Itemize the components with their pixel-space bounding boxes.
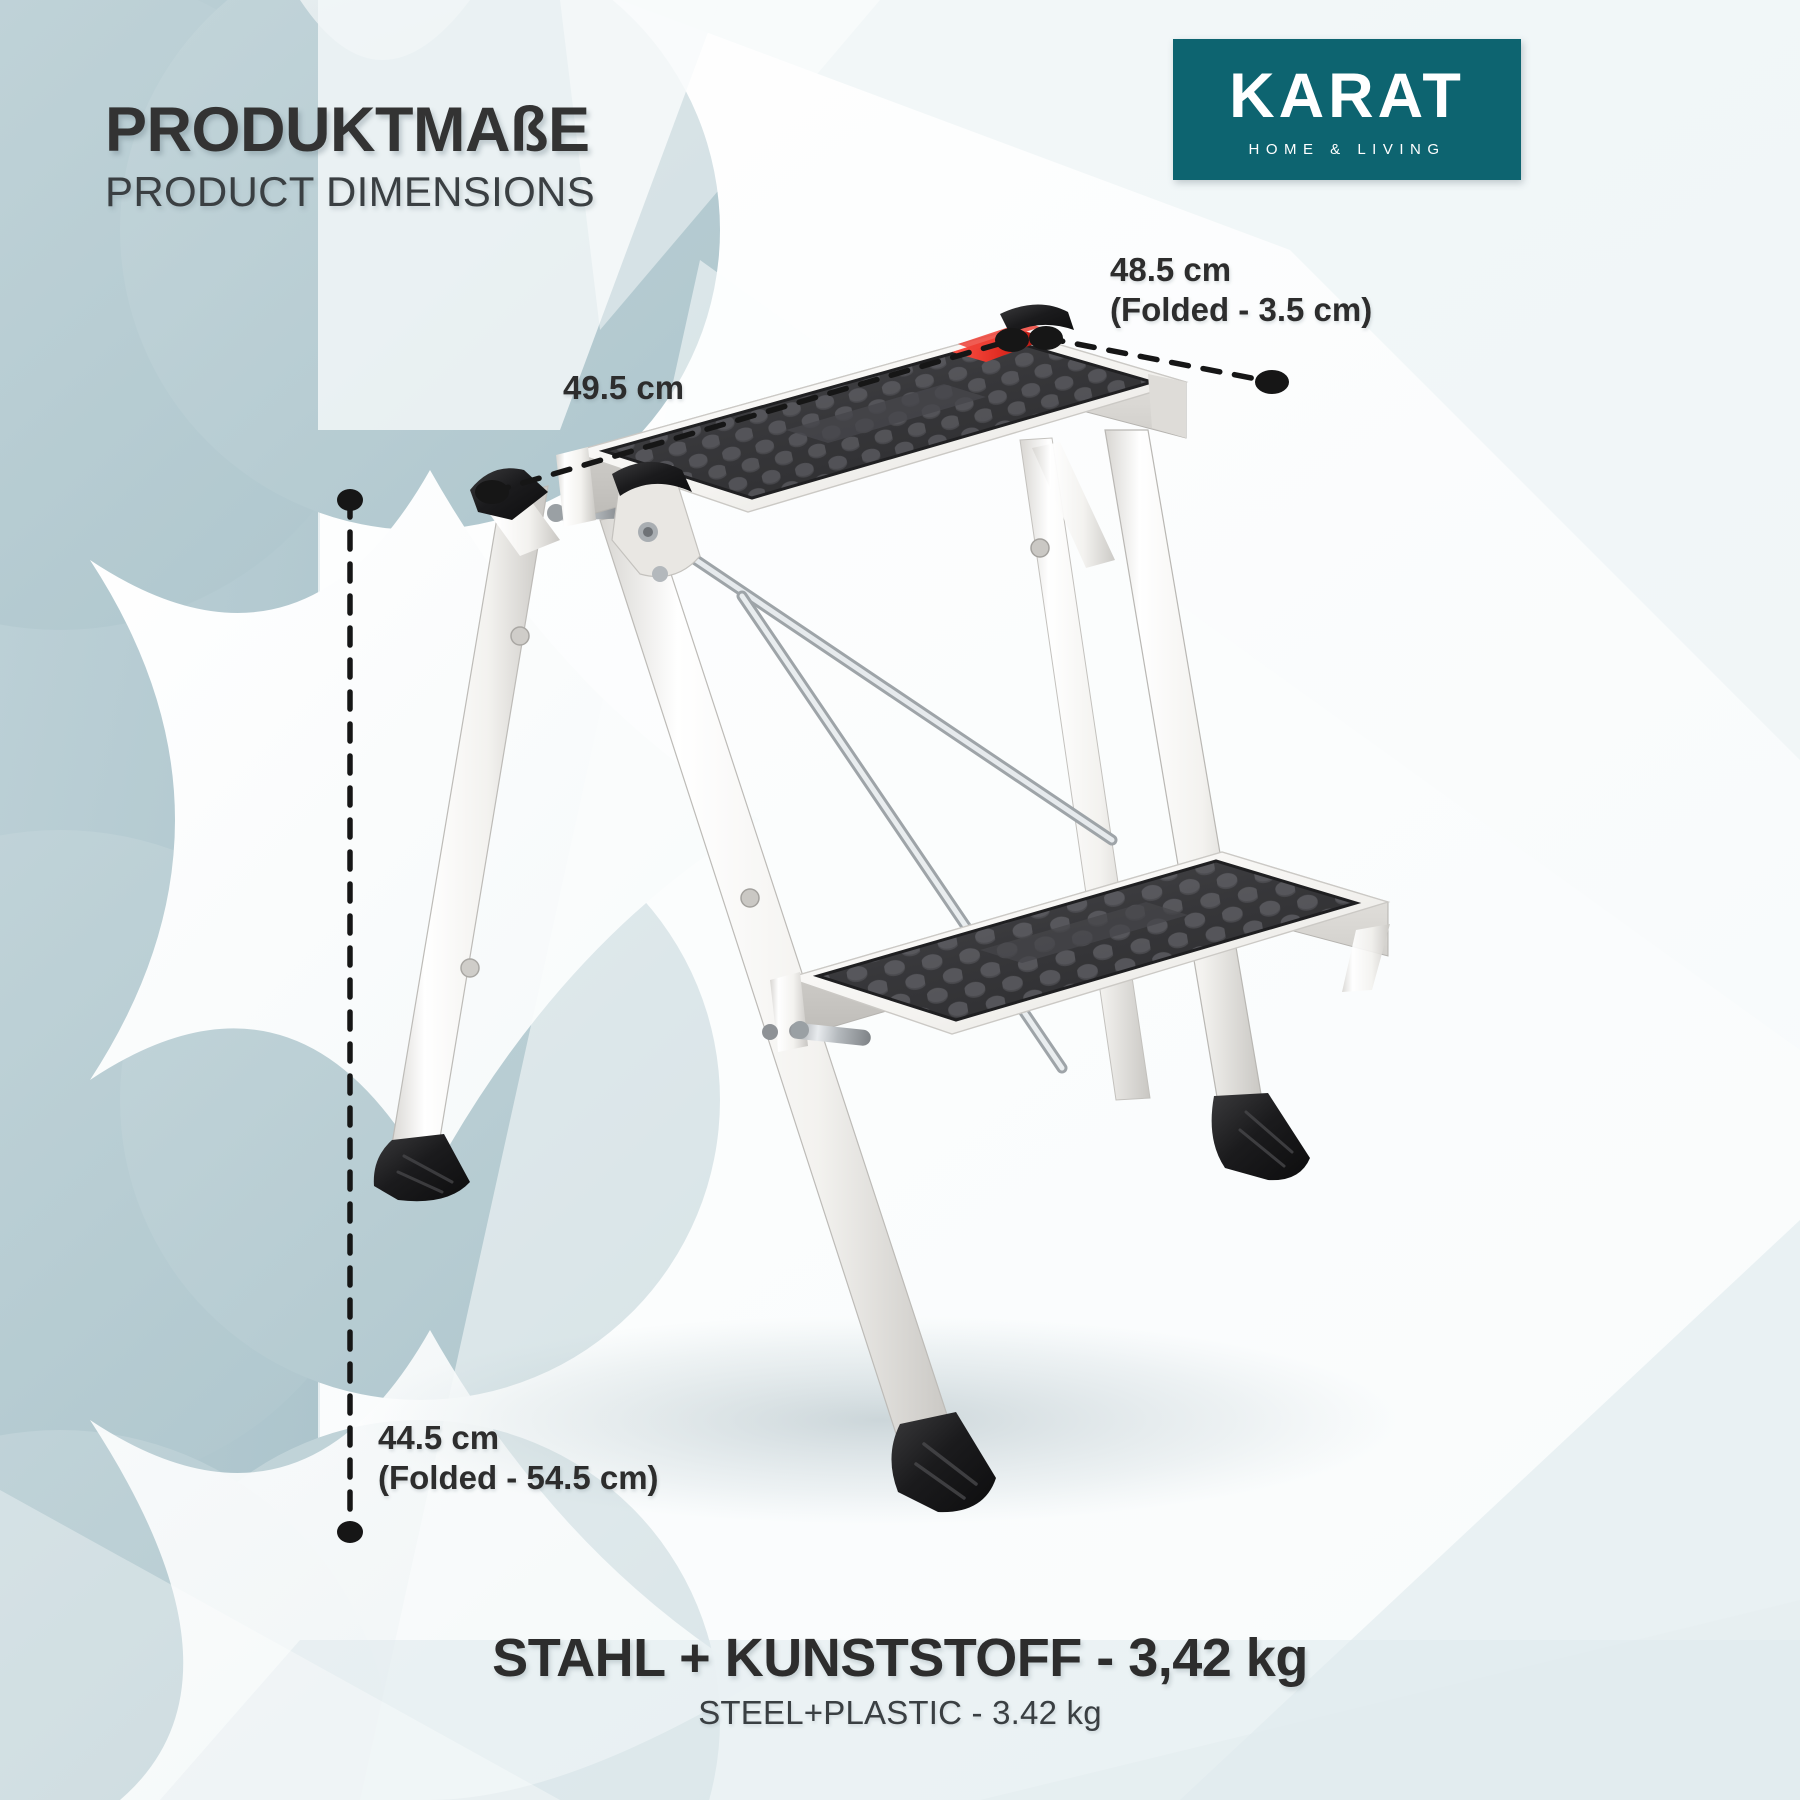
dimension-endpoints xyxy=(337,326,1289,1543)
width-dimension-line xyxy=(492,340,1012,492)
depth-dimension-label: 48.5 cm (Folded - 3.5 cm) xyxy=(1110,250,1372,331)
brand-tagline: HOME & LIVING xyxy=(1248,141,1445,158)
header-block: PRODUKTMAßE PRODUCT DIMENSIONS xyxy=(105,98,595,213)
brand-logo: KARAT HOME & LIVING xyxy=(1173,39,1521,180)
height-value: 44.5 cm xyxy=(378,1418,659,1458)
depth-folded-value: (Folded - 3.5 cm) xyxy=(1110,290,1372,330)
page-title-english: PRODUCT DIMENSIONS xyxy=(105,171,595,213)
depth-value: 48.5 cm xyxy=(1110,250,1372,290)
material-block: STAHL + KUNSTSTOFF - 3,42 kg STEEL+PLAST… xyxy=(0,1630,1800,1730)
width-value: 49.5 cm xyxy=(563,368,684,408)
page-title-german: PRODUKTMAßE xyxy=(105,98,595,162)
infographic-canvas: PRODUKTMAßE PRODUCT DIMENSIONS KARAT HOM… xyxy=(0,0,1800,1800)
material-english: STEEL+PLASTIC - 3.42 kg xyxy=(0,1696,1800,1731)
height-dimension-label: 44.5 cm (Folded - 54.5 cm) xyxy=(378,1418,659,1499)
material-german: STAHL + KUNSTSTOFF - 3,42 kg xyxy=(0,1630,1800,1687)
height-folded-value: (Folded - 54.5 cm) xyxy=(378,1458,659,1498)
depth-dimension-line xyxy=(1046,338,1272,382)
width-dimension-label: 49.5 cm xyxy=(563,368,684,408)
brand-name: KARAT xyxy=(1229,65,1465,128)
dimension-lines xyxy=(0,0,1800,1800)
